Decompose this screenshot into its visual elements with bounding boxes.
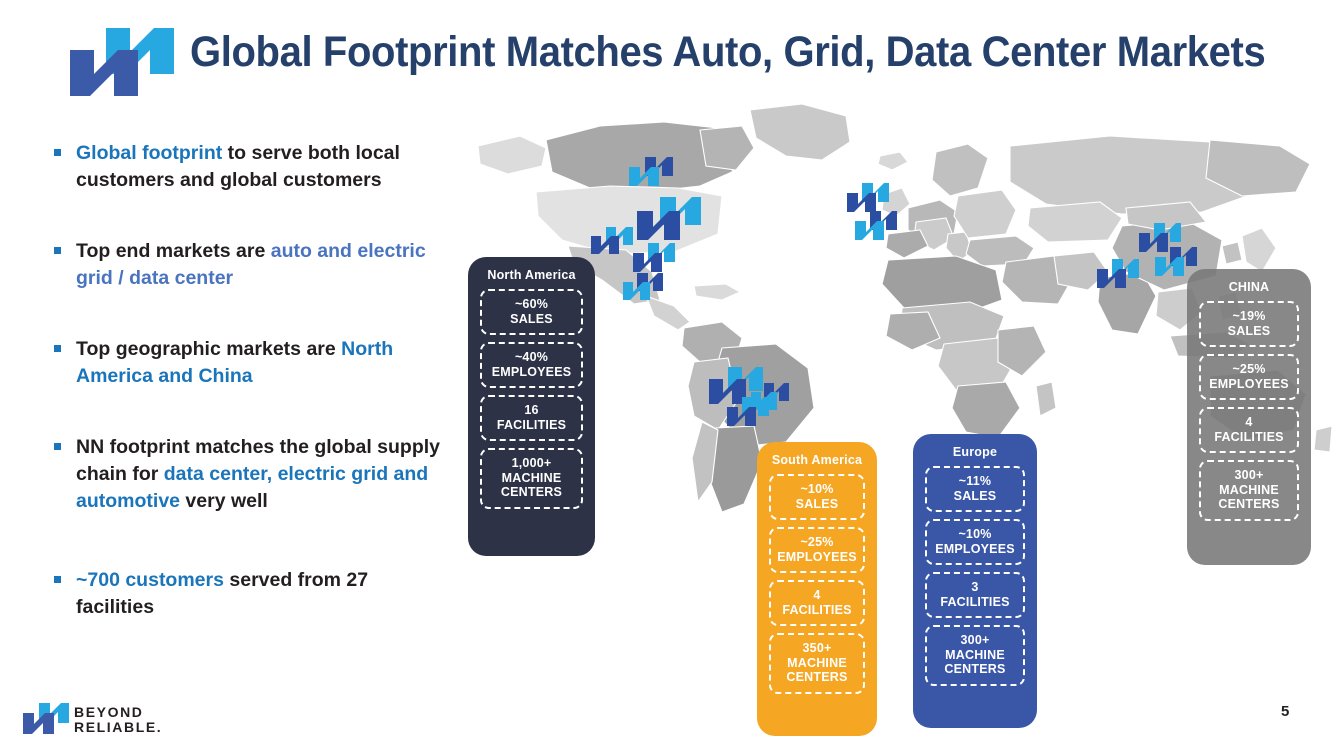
stat-label: FACILITIES [1203, 430, 1295, 445]
stat-value: ~10% [773, 482, 861, 497]
stat-label: MACHINE CENTERS [1203, 483, 1295, 512]
bullet-item-global-footprint: Global footprint to serve both local cus… [48, 140, 448, 194]
footer-logo-line1: BEYOND [74, 705, 162, 720]
stat-value: ~60% [484, 297, 579, 312]
page-number: 5 [1281, 703, 1289, 720]
nn-logo-pin [628, 156, 674, 188]
bullet-2-text: Top end markets are [76, 240, 271, 262]
nn-logo-pin [636, 196, 702, 242]
region-title: Europe [953, 445, 997, 459]
stat-label: SALES [929, 489, 1021, 504]
bullet-list: Global footprint to serve both local cus… [48, 140, 448, 647]
stat-label: EMPLOYEES [484, 365, 579, 380]
nn-logo-pin [854, 210, 898, 242]
footer-logo-text: BEYOND RELIABLE. [74, 705, 162, 735]
region-title: South America [772, 453, 862, 467]
stat-value: 1,000+ [484, 456, 579, 471]
bullet-item-nn-footprint: NN footprint matches the global supply c… [48, 434, 448, 515]
stat-label: EMPLOYEES [929, 542, 1021, 557]
stat-value: ~19% [1203, 309, 1295, 324]
bullet-4-tail: very well [180, 490, 268, 512]
bullet-square-icon [54, 443, 61, 450]
bullet-square-icon [54, 247, 61, 254]
stat-label: SALES [773, 497, 861, 512]
stat-label: EMPLOYEES [1203, 377, 1295, 392]
region-card-china[interactable]: CHINA ~19% SALES ~25% EMPLOYEES 4 FACILI… [1187, 269, 1311, 565]
stat-facilities: 4 FACILITIES [769, 580, 865, 626]
stat-value: 4 [1203, 415, 1295, 430]
stat-sales: ~11% SALES [925, 466, 1025, 512]
stat-label: MACHINE CENTERS [773, 656, 861, 685]
bullet-item-top-end-markets: Top end markets are auto and electric gr… [48, 238, 448, 292]
region-title: CHINA [1229, 280, 1270, 294]
stat-value: 16 [484, 403, 579, 418]
stat-value: ~40% [484, 350, 579, 365]
stat-label: FACILITIES [773, 603, 861, 618]
stat-label: MACHINE CENTERS [484, 471, 579, 500]
nn-logo [68, 26, 176, 98]
nn-logo-icon [22, 702, 70, 736]
stat-value: 3 [929, 580, 1021, 595]
region-title: North America [487, 268, 575, 282]
nn-logo-pin [590, 226, 634, 256]
nn-logo-pin [726, 396, 770, 428]
stat-employees: ~25% EMPLOYEES [1199, 354, 1299, 400]
bullet-square-icon [54, 576, 61, 583]
stat-facilities: 3 FACILITIES [925, 572, 1025, 618]
page-title: Global Footprint Matches Auto, Grid, Dat… [190, 28, 1232, 77]
bullet-item-customers: ~700 customers served from 27 facilities [48, 567, 448, 621]
stat-machine-centers: 350+ MACHINE CENTERS [769, 633, 865, 694]
bullet-1-highlight: Global footprint [76, 142, 222, 164]
bullet-item-top-geographic-markets: Top geographic markets are North America… [48, 336, 448, 390]
stat-value: 4 [773, 588, 861, 603]
region-card-south-america[interactable]: South America ~10% SALES ~25% EMPLOYEES … [757, 442, 877, 736]
stat-value: ~10% [929, 527, 1021, 542]
stat-facilities: 4 FACILITIES [1199, 407, 1299, 453]
stat-label: EMPLOYEES [773, 550, 861, 565]
bullet-square-icon [54, 345, 61, 352]
stat-value: ~11% [929, 474, 1021, 489]
bullet-square-icon [54, 149, 61, 156]
stat-label: SALES [484, 312, 579, 327]
region-card-north-america[interactable]: North America ~60% SALES ~40% EMPLOYEES … [468, 257, 595, 556]
region-card-europe[interactable]: Europe ~11% SALES ~10% EMPLOYEES 3 FACIL… [913, 434, 1037, 728]
stat-value: 350+ [773, 641, 861, 656]
stat-employees: ~25% EMPLOYEES [769, 527, 865, 573]
slide-header: Global Footprint Matches Auto, Grid, Dat… [0, 0, 1333, 110]
stat-facilities: 16 FACILITIES [480, 395, 583, 441]
stat-sales: ~19% SALES [1199, 301, 1299, 347]
stat-sales: ~60% SALES [480, 289, 583, 335]
bullet-5-highlight: ~700 customers [76, 569, 224, 591]
footer-logo-line2: RELIABLE. [74, 720, 162, 735]
stat-sales: ~10% SALES [769, 474, 865, 520]
bullet-3-text: Top geographic markets are [76, 338, 341, 360]
nn-logo-pin [632, 242, 676, 274]
stat-value: ~25% [773, 535, 861, 550]
stat-label: FACILITIES [484, 418, 579, 433]
stat-machine-centers: 300+ MACHINE CENTERS [925, 625, 1025, 686]
nn-logo-pin [622, 272, 664, 302]
stat-machine-centers: 300+ MACHINE CENTERS [1199, 460, 1299, 521]
stat-machine-centers: 1,000+ MACHINE CENTERS [480, 448, 583, 509]
stat-label: SALES [1203, 324, 1295, 339]
footer-logo: BEYOND RELIABLE. [22, 702, 192, 742]
stat-employees: ~10% EMPLOYEES [925, 519, 1025, 565]
stat-value: 300+ [1203, 468, 1295, 483]
stat-employees: ~40% EMPLOYEES [480, 342, 583, 388]
stat-label: FACILITIES [929, 595, 1021, 610]
stat-value: 300+ [929, 633, 1021, 648]
stat-value: ~25% [1203, 362, 1295, 377]
stat-label: MACHINE CENTERS [929, 648, 1021, 677]
nn-logo-pin [1096, 258, 1140, 290]
